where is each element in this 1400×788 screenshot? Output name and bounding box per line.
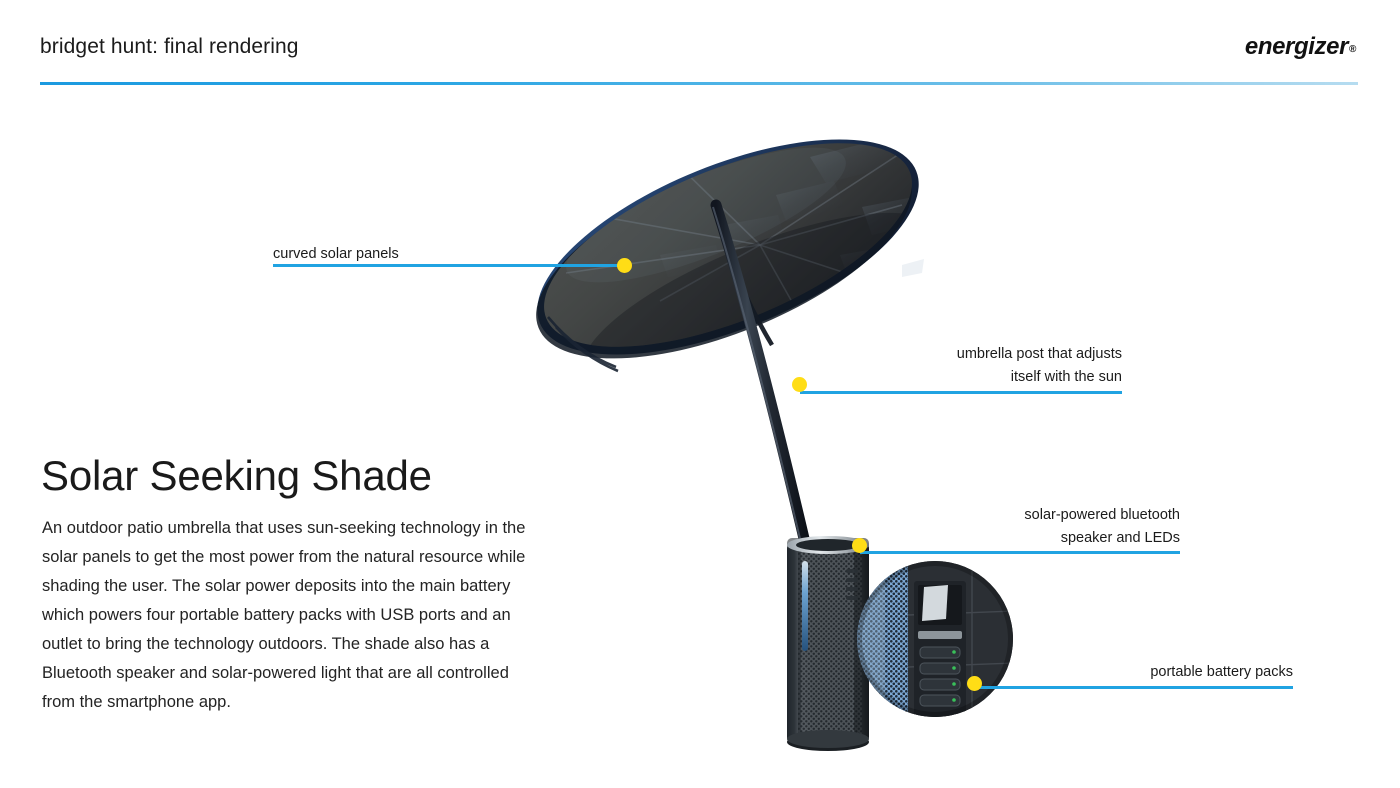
registered-trademark-icon: ®: [1349, 44, 1356, 55]
presentation-slide: bridget hunt: final rendering energizer®: [0, 0, 1400, 788]
brand-logo-text: energizer: [1245, 33, 1348, 60]
callout-label-portable-battery-packs: portable battery packs: [1055, 661, 1293, 684]
callout-dot-bluetooth-speaker[interactable]: [852, 538, 867, 553]
product-title: Solar Seeking Shade: [41, 452, 432, 500]
callout-dot-portable-battery-packs[interactable]: [967, 676, 982, 691]
detail-zoom-circle: [857, 561, 1016, 721]
callout-leader-line-bluetooth-speaker: [860, 551, 1180, 554]
product-render-image: [510, 95, 1070, 755]
product-description: An outdoor patio umbrella that uses sun-…: [42, 514, 534, 717]
callout-dot-umbrella-post[interactable]: [792, 377, 807, 392]
page-title: bridget hunt: final rendering: [40, 35, 299, 59]
callout-label-curved-solar-panels: curved solar panels: [273, 243, 399, 266]
header-divider: [40, 82, 1358, 85]
callout-label-umbrella-post: umbrella post that adjusts itself with t…: [880, 343, 1122, 389]
callout-dot-curved-solar-panels[interactable]: [617, 258, 632, 273]
callout-leader-line-curved-solar-panels: [273, 264, 625, 267]
callout-leader-line-umbrella-post: [800, 391, 1122, 394]
brand-logo: energizer®: [1245, 33, 1356, 61]
callout-label-bluetooth-speaker: solar-powered bluetooth speaker and LEDs: [940, 504, 1180, 550]
callout-leader-line-portable-battery-packs: [975, 686, 1293, 689]
